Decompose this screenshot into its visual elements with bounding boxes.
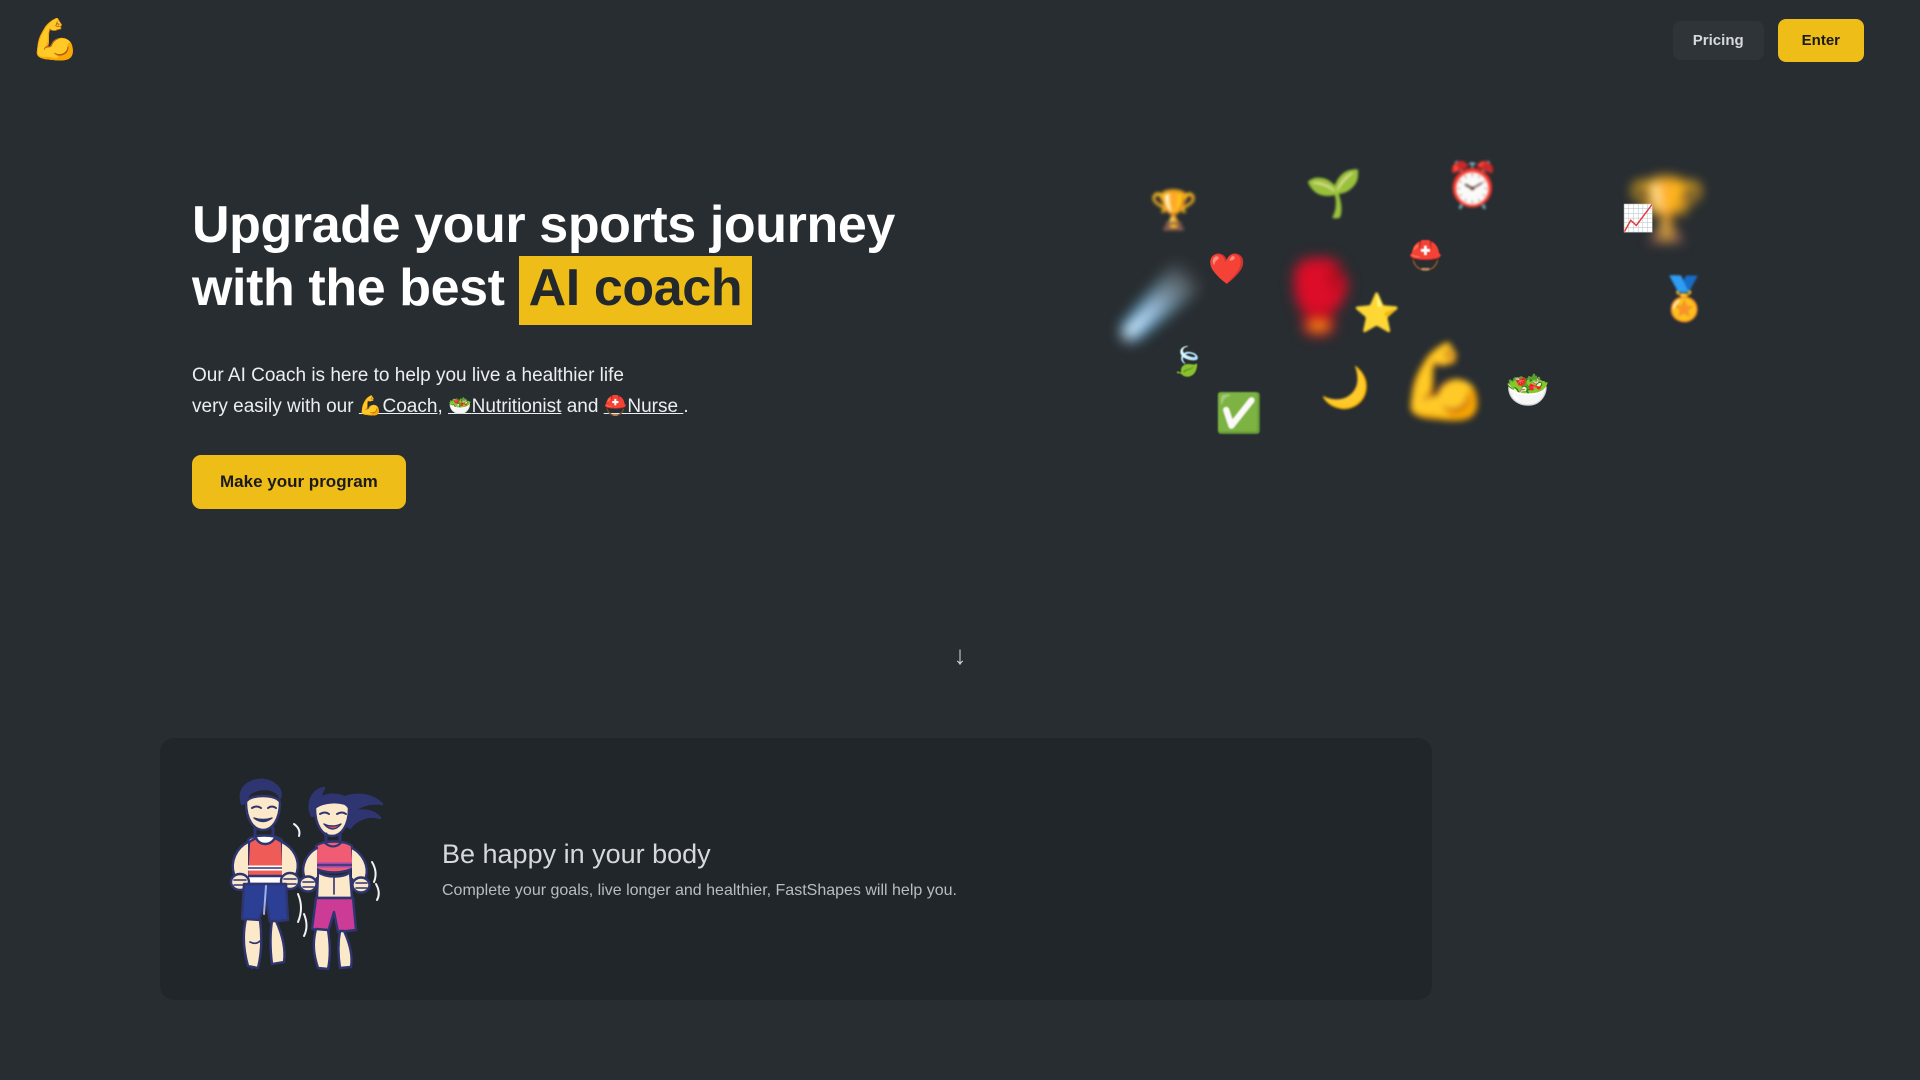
hero-subtitle: Our AI Coach is here to help you live a … <box>192 360 1092 423</box>
floating-emoji-field: 🏆🌱⏰🏆📈❤️⛑️☄️🥊⭐🏅🍃🌙✅💪🥗 <box>1110 150 1920 550</box>
red-heart-icon: ❤️ <box>1208 255 1245 285</box>
flexed-biceps-logo-icon[interactable]: 💪 <box>30 20 80 60</box>
two-runners-illustration <box>200 764 400 974</box>
subtitle-line-2-prefix: very easily with our <box>192 396 354 417</box>
scroll-down-arrow-icon[interactable]: ↓ <box>0 640 1920 671</box>
heading-line-1: Upgrade your sports journey <box>192 196 895 254</box>
link-nurse-label: Nurse <box>627 396 678 417</box>
page-title: Upgrade your sports journey with the bes… <box>192 195 1092 325</box>
seedling-icon: 🌱 <box>1305 170 1362 216</box>
pricing-button[interactable]: Pricing <box>1673 21 1764 60</box>
alarm-clock-icon: ⏰ <box>1445 164 1500 208</box>
subtitle-conjunction: and <box>567 396 599 417</box>
check-mark-icon: ✅ <box>1215 395 1262 433</box>
subtitle-line-1: Our AI Coach is here to help you live a … <box>192 365 624 386</box>
feature-card-description: Complete your goals, live longer and hea… <box>442 882 957 900</box>
feature-card-title: Be happy in your body <box>442 838 957 870</box>
site-header: 💪 Pricing Enter <box>0 0 1920 80</box>
flexed-biceps-icon: 💪 <box>1398 345 1490 419</box>
flexed-biceps-icon: 💪 <box>359 396 383 417</box>
comet-icon: ☄️ <box>1118 268 1203 336</box>
boxing-glove-icon: 🥊 <box>1275 262 1362 332</box>
feature-card: Be happy in your body Complete your goal… <box>160 738 1432 1000</box>
star-icon: ⭐ <box>1353 295 1400 333</box>
sports-medal-icon: 🏅 <box>1658 278 1710 320</box>
rescue-helmet-icon: ⛑️ <box>1408 242 1443 270</box>
chart-increasing-icon: 📈 <box>1622 205 1654 231</box>
primary-nav: Pricing Enter <box>1673 19 1864 62</box>
link-coach-label: Coach <box>383 396 438 417</box>
green-salad-icon: 🥗 <box>1505 372 1550 408</box>
landing-page: 💪 Pricing Enter Upgrade your sports jour… <box>0 0 1920 1080</box>
link-coach[interactable]: 💪Coach <box>359 396 438 417</box>
subtitle-period: . <box>683 396 688 417</box>
heading-line-2-prefix: with the best <box>192 259 505 317</box>
subtitle-separator: , <box>437 396 442 417</box>
enter-button[interactable]: Enter <box>1778 19 1864 62</box>
link-nutritionist[interactable]: 🥗Nutritionist <box>448 396 561 417</box>
link-nurse[interactable]: ⛑️Nurse <box>604 396 684 417</box>
rescue-helmet-icon: ⛑️ <box>604 396 628 417</box>
trophy-icon: 🏆 <box>1150 192 1197 230</box>
leaf-fluttering-icon: 🍃 <box>1170 348 1205 376</box>
green-salad-icon: 🥗 <box>448 396 472 417</box>
link-nutritionist-label: Nutritionist <box>472 396 562 417</box>
crescent-moon-icon: 🌙 <box>1320 368 1370 408</box>
feature-card-text: Be happy in your body Complete your goal… <box>442 838 957 900</box>
make-your-program-button[interactable]: Make your program <box>192 455 406 509</box>
hero-section: Upgrade your sports journey with the bes… <box>192 195 1092 509</box>
heading-highlight-ai-coach: AI coach <box>519 256 753 324</box>
